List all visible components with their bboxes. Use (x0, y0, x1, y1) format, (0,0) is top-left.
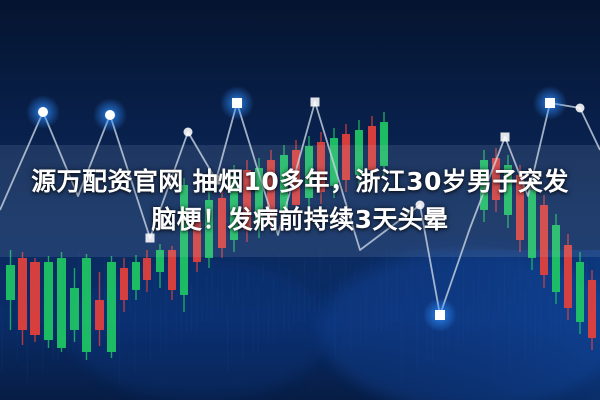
candlestick (576, 252, 584, 334)
zigzag-marker-circle (38, 107, 48, 117)
zigzag-marker-square (311, 98, 320, 107)
zigzag-marker-circle (105, 110, 115, 120)
zigzag-marker-circle (576, 104, 585, 113)
candlestick (30, 258, 40, 342)
zigzag-marker-square (232, 98, 242, 108)
zigzag-marker-square (545, 98, 555, 108)
zigzag-marker-square (501, 133, 510, 142)
candlestick (44, 256, 53, 348)
zigzag-marker-square (435, 310, 445, 320)
headline-line-1: 源万配资官网 抽烟10多年，浙江30岁男子突发 (31, 163, 569, 201)
headline-block: 源万配资官网 抽烟10多年，浙江30岁男子突发 脑梗！发病前持续3天头晕 (0, 145, 600, 257)
banner-image: 源万配资官网 抽烟10多年，浙江30岁男子突发 脑梗！发病前持续3天头晕 (0, 0, 600, 400)
zigzag-marker-circle (184, 128, 193, 137)
headline-line-2: 脑梗！发病前持续3天头晕 (151, 201, 448, 239)
